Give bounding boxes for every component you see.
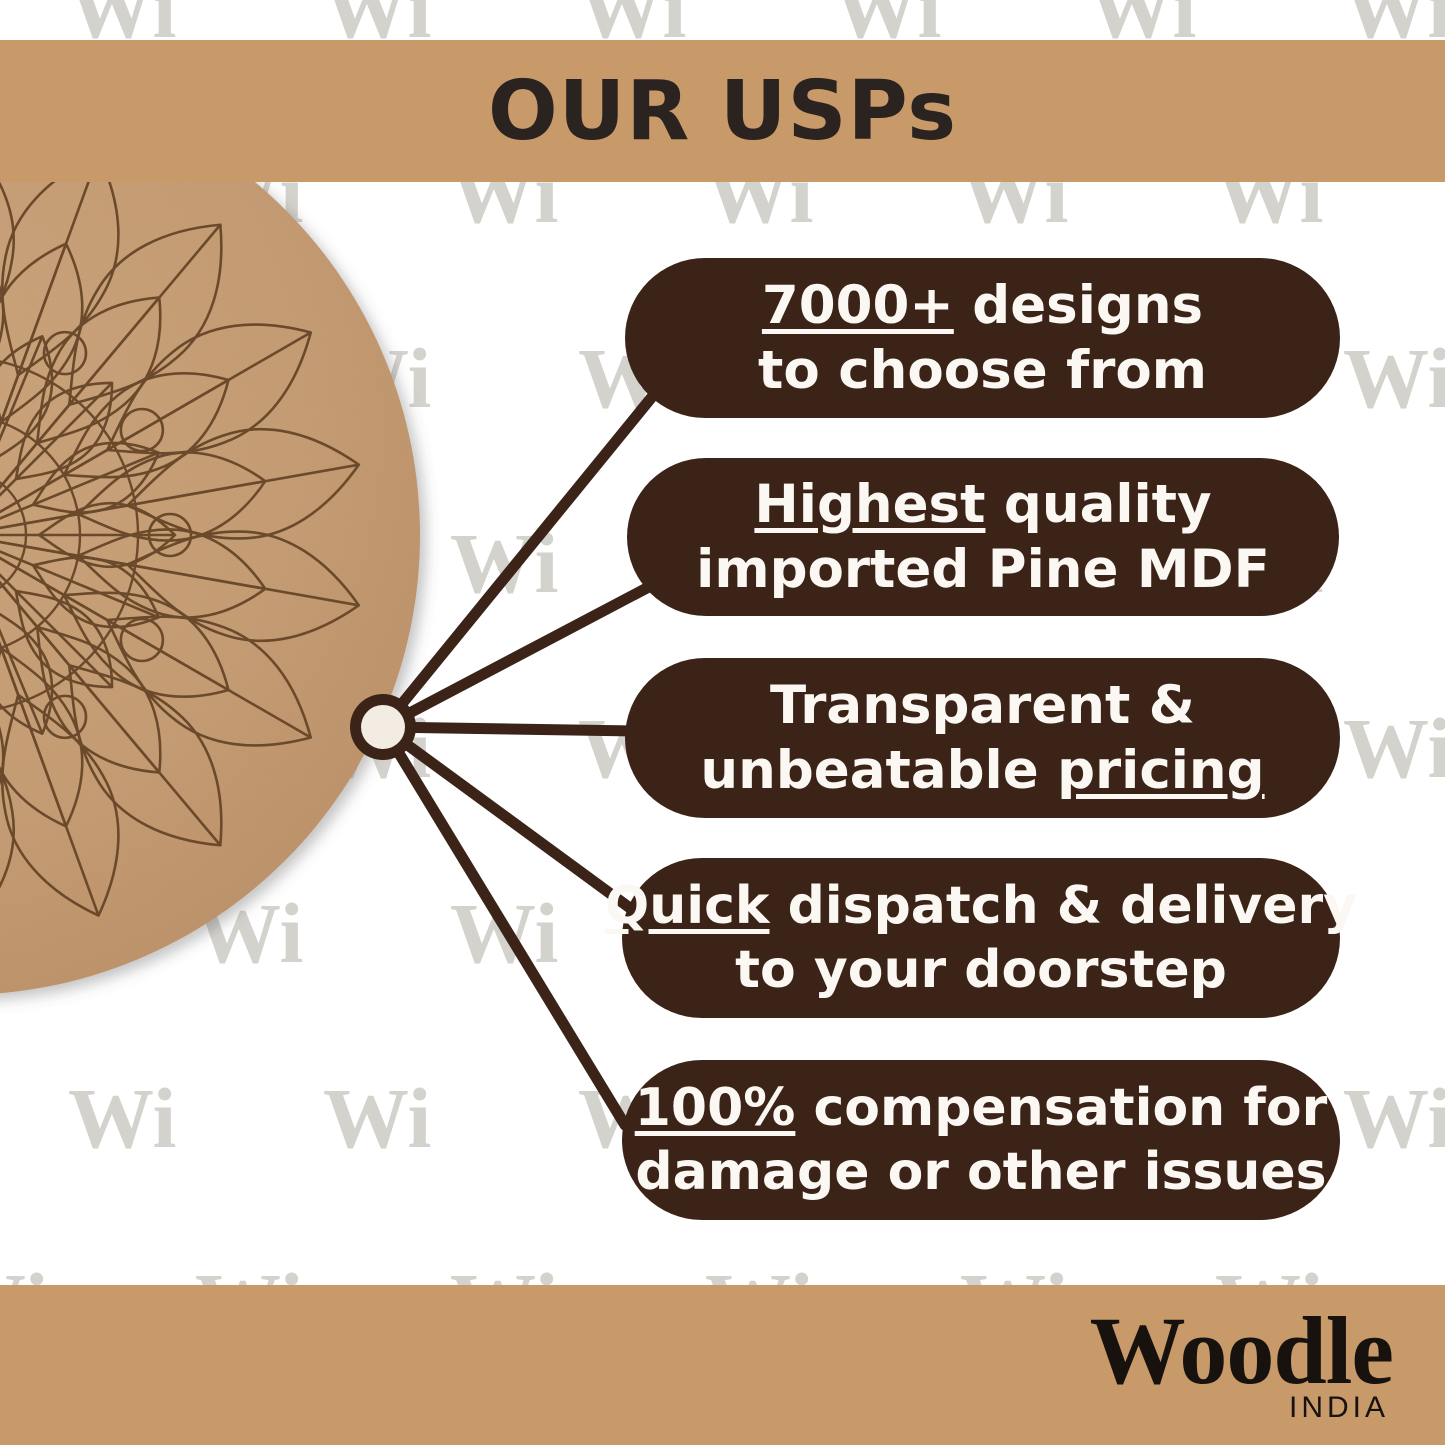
- usp-pill-pricing[interactable]: Transparent &unbeatable pricing: [625, 658, 1340, 818]
- usp-pill-designs[interactable]: 7000+ designsto choose from: [625, 258, 1340, 418]
- usp-pill-dispatch[interactable]: Quick dispatch & deliveryto your doorste…: [622, 858, 1340, 1018]
- hub-node[interactable]: [350, 694, 416, 760]
- usp-line-2: to choose from: [758, 338, 1207, 403]
- usp-pill-compensation[interactable]: 100% compensation fordamage or other iss…: [622, 1060, 1340, 1220]
- page-title: OUR USPs: [0, 40, 1445, 182]
- usp-list: 7000+ designsto choose fromHighest quali…: [0, 0, 1445, 1445]
- usp-line-2: imported Pine MDF: [696, 537, 1270, 602]
- usp-line-1: 7000+ designs: [762, 273, 1203, 338]
- brand-logo: Woodle INDIA: [1090, 1305, 1393, 1425]
- usp-line-2: unbeatable pricing: [700, 738, 1264, 803]
- usp-line-1: Transparent &: [770, 673, 1195, 738]
- brand-logo-name: Woodle: [1090, 1305, 1393, 1397]
- usp-line-1: 100% compensation for: [635, 1076, 1328, 1140]
- hub-node-center: [361, 705, 405, 749]
- usp-line-1: Quick dispatch & delivery: [605, 874, 1357, 938]
- usp-line-2: damage or other issues: [635, 1140, 1326, 1204]
- usp-line-2: to your doorstep: [735, 938, 1227, 1002]
- usp-pill-quality[interactable]: Highest qualityimported Pine MDF: [627, 458, 1339, 616]
- infographic-canvas: WiWiWiWiWiWiWiWiWiWiWiWiWiWiWiWiWiWiWiWi…: [0, 0, 1445, 1445]
- usp-line-1: Highest quality: [754, 472, 1211, 537]
